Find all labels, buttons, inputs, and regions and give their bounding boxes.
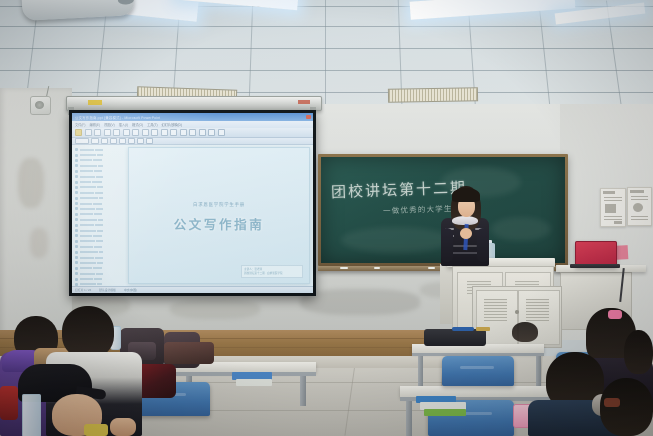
handbag bbox=[164, 342, 214, 364]
student-head bbox=[600, 378, 653, 436]
paste-icon[interactable] bbox=[151, 129, 158, 136]
menu-item-tools[interactable]: 工具(T) bbox=[147, 122, 157, 127]
undo-icon[interactable] bbox=[161, 129, 168, 136]
italic-icon[interactable] bbox=[110, 138, 117, 144]
slide-thumb-icon bbox=[75, 175, 78, 178]
projection-screen: 公文写作指南.ppt [兼容模式] - Microsoft PowerPoint… bbox=[69, 110, 316, 296]
desk-leg bbox=[406, 401, 412, 436]
wall-notice bbox=[600, 188, 626, 227]
slide-thumb-icon bbox=[75, 186, 78, 189]
laptop-keyboard-base[interactable] bbox=[570, 264, 620, 268]
slide-thumb-icon bbox=[75, 229, 78, 232]
menu-item-insert[interactable]: 插入(I) bbox=[119, 122, 128, 127]
zoom-icon[interactable] bbox=[208, 129, 215, 136]
menu-item-view[interactable]: 视图(V) bbox=[104, 122, 115, 127]
notebook bbox=[236, 379, 272, 386]
menu-item-format[interactable]: 格式(O) bbox=[132, 122, 143, 127]
desk-leg bbox=[418, 356, 423, 390]
close-icon[interactable] bbox=[306, 115, 311, 119]
slide-thumb-icon bbox=[75, 202, 78, 205]
slide-thumb-icon bbox=[75, 261, 78, 264]
status-theme: 默认设计模板 bbox=[99, 288, 116, 292]
bullet-list-icon[interactable] bbox=[146, 138, 153, 144]
slide-thumb-icon bbox=[75, 191, 78, 194]
laptop-bag bbox=[424, 329, 486, 346]
slide-thumb-icon bbox=[75, 251, 78, 254]
slide-subtitle: 白求恩医学院学生手册 bbox=[193, 202, 245, 208]
bold-icon[interactable] bbox=[101, 138, 108, 144]
student-hand bbox=[110, 418, 136, 436]
wall-notice bbox=[627, 187, 652, 226]
desk-leg bbox=[536, 356, 541, 386]
app-menu-bar: 文件(F) 编辑(E) 视图(V) 插入(I) 格式(O) 工具(T) 幻灯片放… bbox=[72, 121, 313, 128]
slide-thumb-icon bbox=[75, 256, 78, 259]
water-bottle bbox=[22, 394, 41, 436]
app-status-bar: 幻灯片 1 / 26 默认设计模板 中文(中国) bbox=[72, 286, 313, 293]
housing-indicator bbox=[298, 100, 310, 104]
font-family-select[interactable] bbox=[75, 138, 89, 144]
slide-thumb-icon bbox=[75, 159, 78, 162]
bag-strap bbox=[452, 327, 474, 331]
redo-icon[interactable] bbox=[170, 129, 177, 136]
student-head bbox=[624, 330, 653, 374]
speaker-cone-icon bbox=[35, 101, 44, 109]
slide-thumb-icon bbox=[75, 267, 78, 270]
spellcheck-icon[interactable] bbox=[123, 129, 130, 136]
chalk-title: 团校讲坛第十二期 bbox=[331, 177, 468, 203]
new-file-icon[interactable] bbox=[75, 129, 82, 136]
menu-item-file[interactable]: 文件(F) bbox=[75, 122, 85, 127]
projection-screen-housing bbox=[66, 96, 322, 111]
bag-accent bbox=[476, 327, 490, 331]
presenter-arm-right bbox=[477, 228, 489, 262]
slide-thumb-icon bbox=[75, 245, 78, 248]
student-glasses bbox=[604, 398, 620, 407]
desk-leg bbox=[300, 376, 306, 406]
slide-title: 公文写作指南 bbox=[174, 214, 265, 233]
status-language: 中文(中国) bbox=[124, 288, 137, 292]
slide-thumb-icon bbox=[75, 181, 78, 184]
slide-thumb-icon bbox=[75, 154, 78, 157]
slide-thumb-icon bbox=[75, 207, 78, 210]
menu-item-slideshow[interactable]: 幻灯片放映(D) bbox=[162, 122, 182, 127]
slide-thumb-icon bbox=[75, 240, 78, 243]
classroom-scene: 公文写作指南.ppt [兼容模式] - Microsoft PowerPoint… bbox=[0, 0, 653, 436]
slide-thumb-icon bbox=[75, 224, 78, 227]
slide-thumb-icon bbox=[75, 164, 78, 167]
slide-thumb-icon bbox=[75, 218, 78, 221]
cabinet-handle[interactable] bbox=[515, 310, 519, 314]
yellow-object bbox=[84, 424, 108, 436]
save-icon[interactable] bbox=[94, 129, 101, 136]
font-size-select[interactable] bbox=[91, 138, 99, 144]
presenter-hands bbox=[460, 228, 472, 239]
notebook bbox=[424, 409, 466, 416]
menu-item-edit[interactable]: 编辑(E) bbox=[89, 122, 100, 127]
copy-icon[interactable] bbox=[142, 129, 149, 136]
print-icon[interactable] bbox=[104, 129, 111, 136]
ceiling-light-panel bbox=[410, 0, 576, 20]
projector-lens-icon bbox=[118, 0, 134, 5]
student-head bbox=[512, 322, 538, 342]
preview-icon[interactable] bbox=[113, 129, 120, 136]
align-left-icon[interactable] bbox=[128, 138, 135, 144]
app-toolbar-primary bbox=[72, 128, 313, 138]
app-toolbar-formatting bbox=[72, 138, 313, 145]
slide-footer-box: 主讲人：张老师 团校讲坛第十二期 · 白求恩医学院 bbox=[241, 265, 303, 278]
status-slide-indicator: 幻灯片 1 / 26 bbox=[75, 288, 91, 292]
left-wall-column bbox=[0, 88, 72, 340]
student-chair[interactable] bbox=[442, 356, 514, 386]
red-object bbox=[0, 386, 18, 420]
align-center-icon[interactable] bbox=[137, 138, 144, 144]
app-title-bar: 公文写作指南.ppt [兼容模式] - Microsoft PowerPoint bbox=[72, 113, 313, 121]
slide-thumb-icon bbox=[75, 278, 78, 281]
hair-clip bbox=[608, 310, 622, 319]
presenter-fringe bbox=[452, 188, 480, 202]
slide-thumb-icon bbox=[75, 148, 78, 151]
slide-editing-area[interactable]: 白求恩医学院学生手册 公文写作指南 主讲人：张老师 团校讲坛第十二期 · 白求恩… bbox=[124, 145, 313, 286]
presenter-arm-left bbox=[441, 228, 453, 262]
projected-image: 公文写作指南.ppt [兼容模式] - Microsoft PowerPoint… bbox=[72, 113, 313, 293]
help-icon[interactable] bbox=[218, 129, 225, 136]
slide-thumb-icon bbox=[75, 170, 78, 173]
current-slide[interactable]: 白求恩医学院学生手册 公文写作指南 主讲人：张老师 团校讲坛第十二期 · 白求恩… bbox=[128, 147, 310, 284]
slide-thumb-icon bbox=[75, 213, 78, 216]
underline-icon[interactable] bbox=[119, 138, 126, 144]
app-title-text: 公文写作指南.ppt [兼容模式] - Microsoft PowerPoint bbox=[75, 115, 160, 120]
slide-outline-pane[interactable] bbox=[72, 145, 125, 286]
insert-chart-icon[interactable] bbox=[189, 129, 196, 136]
insert-table-icon[interactable] bbox=[180, 129, 187, 136]
ceiling-vent bbox=[388, 87, 478, 103]
housing-label-sticker bbox=[88, 100, 102, 105]
slide-footer-line-2: 团校讲坛第十二期 · 白求恩医学院 bbox=[244, 272, 300, 276]
cut-icon[interactable] bbox=[132, 129, 139, 136]
open-icon[interactable] bbox=[85, 129, 92, 136]
student-head bbox=[62, 306, 114, 358]
slide-thumb-icon bbox=[75, 234, 78, 237]
insert-image-icon[interactable] bbox=[199, 129, 206, 136]
slide-thumb-icon bbox=[75, 197, 78, 200]
slide-thumb-icon bbox=[75, 272, 78, 275]
